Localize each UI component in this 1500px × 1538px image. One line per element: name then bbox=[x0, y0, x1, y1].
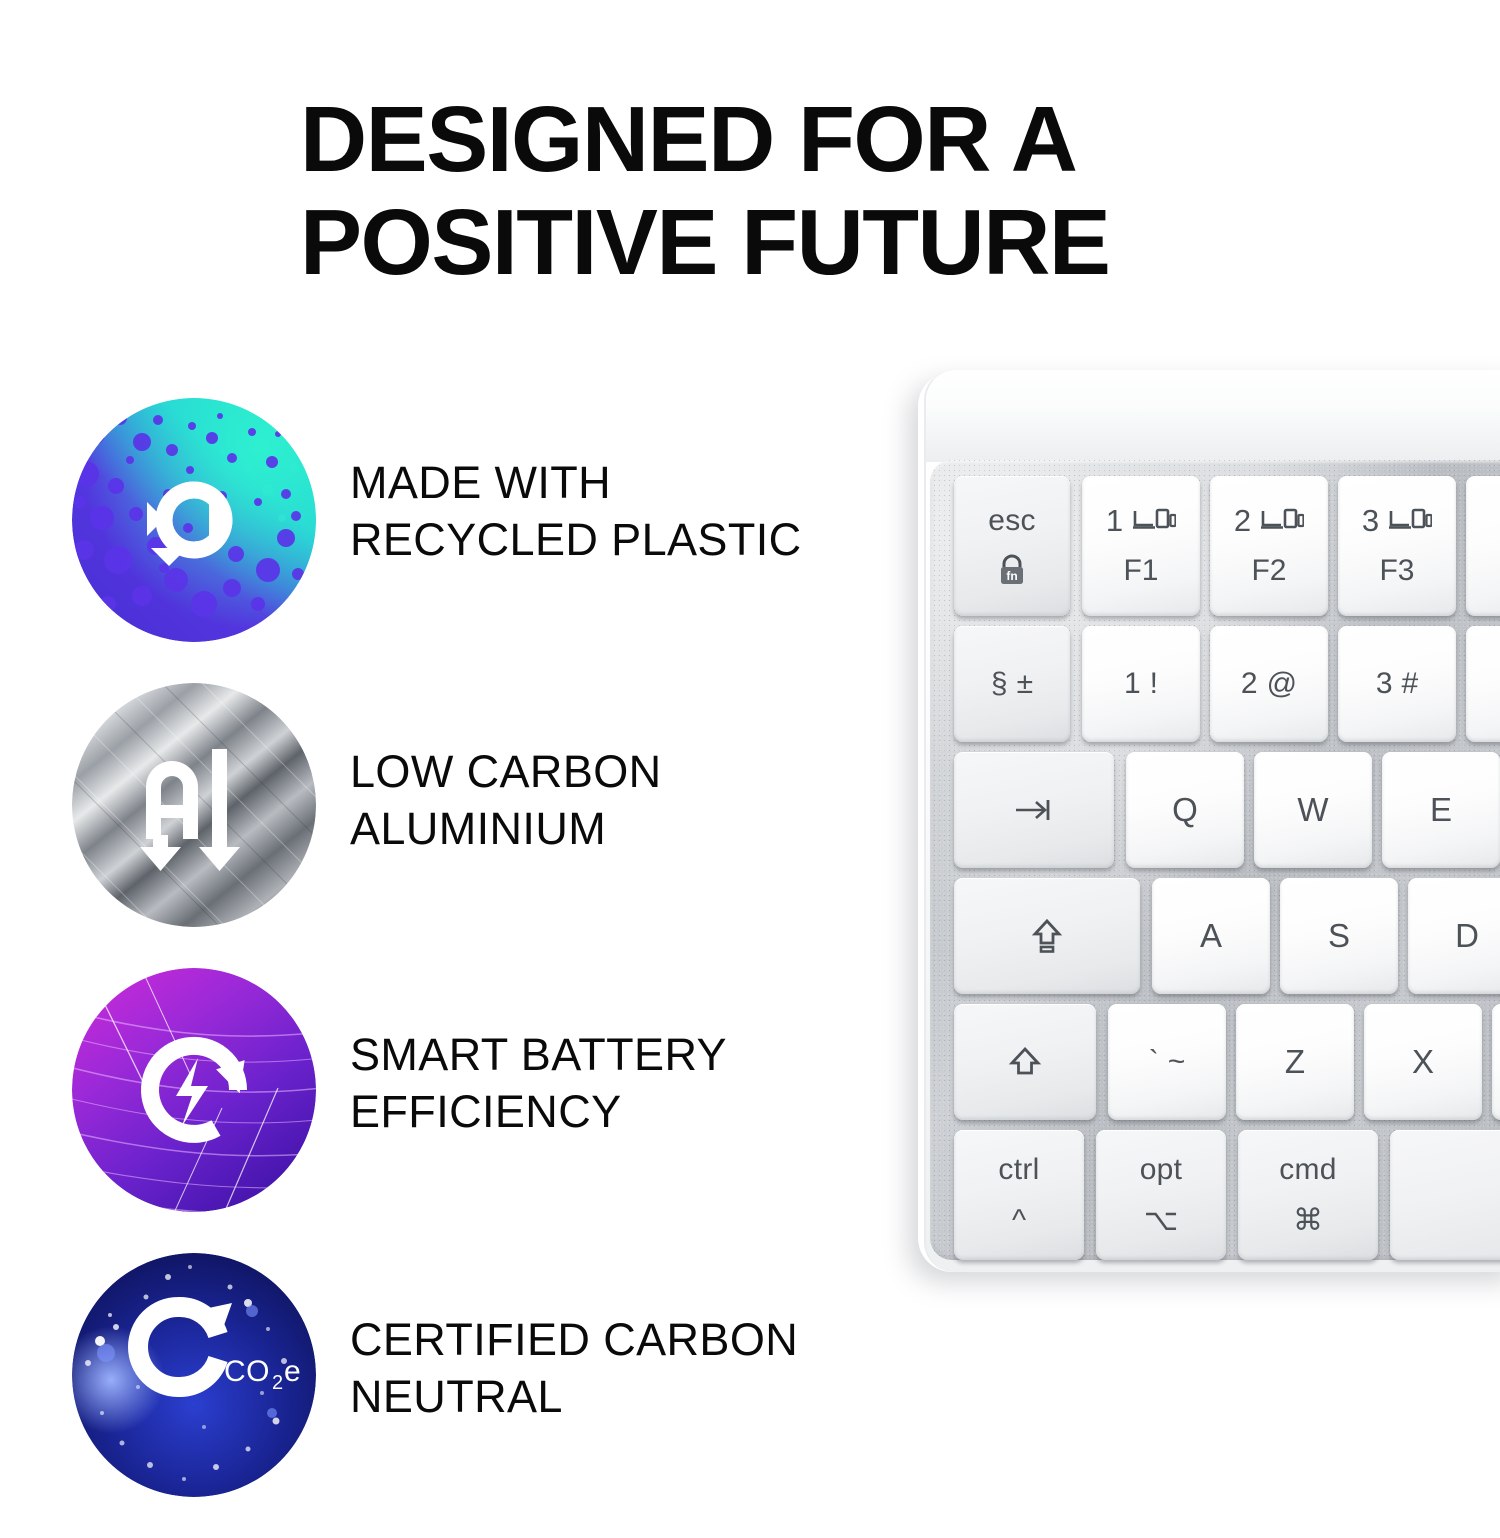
key-f1-label: F1 bbox=[1123, 554, 1158, 588]
key-w-label: W bbox=[1297, 792, 1328, 828]
key-x[interactable]: X bbox=[1364, 1004, 1482, 1120]
feature-label-line-2: EFFICIENCY bbox=[350, 1083, 880, 1140]
feature-label-line-1: CERTIFIED CARBON bbox=[350, 1311, 880, 1368]
feature-label-smart-battery-efficiency: SMART BATTERY EFFICIENCY bbox=[350, 1026, 880, 1140]
key-digit-2-label: 2 bbox=[1241, 667, 1258, 701]
key-cmd-sub: ⌘ bbox=[1293, 1205, 1323, 1237]
key-f3-number: 3 bbox=[1362, 504, 1379, 538]
key-backtick-label: ` bbox=[1149, 1045, 1159, 1079]
key-f2-top: 2 bbox=[1234, 504, 1304, 538]
key-q[interactable]: Q bbox=[1126, 752, 1244, 868]
feature-item-recycled-plastic: MADE WITH RECYCLED PLASTIC bbox=[72, 398, 882, 683]
low-carbon-aluminium-icon bbox=[72, 683, 316, 927]
key-f3-label: F3 bbox=[1379, 554, 1414, 588]
key-digit-2-shift: @ bbox=[1267, 667, 1297, 701]
key-q-label: Q bbox=[1172, 792, 1198, 828]
key-backtick-shift: ~ bbox=[1168, 1045, 1186, 1079]
easy-switch-devices-icon bbox=[1260, 508, 1304, 534]
key-f1[interactable]: 1 F1 bbox=[1082, 476, 1200, 616]
key-f2-number: 2 bbox=[1234, 504, 1251, 538]
key-digit-1-legends: 1 ! bbox=[1124, 667, 1158, 701]
key-section-shift: ± bbox=[1017, 667, 1033, 701]
easy-switch-devices-icon bbox=[1388, 508, 1432, 534]
key-digit-1[interactable]: 1 ! bbox=[1082, 626, 1200, 742]
svg-text:2: 2 bbox=[272, 1372, 283, 1394]
feature-item-smart-battery-efficiency: SMART BATTERY EFFICIENCY bbox=[72, 968, 882, 1253]
key-backtick-legends: ` ~ bbox=[1149, 1045, 1186, 1079]
certified-carbon-neutral-icon: CO 2 e bbox=[72, 1253, 316, 1497]
feature-label-line-1: LOW CARBON bbox=[350, 743, 880, 800]
key-digit-2[interactable]: 2 @ bbox=[1210, 626, 1328, 742]
key-digit-2-legends: 2 @ bbox=[1241, 667, 1297, 701]
page-title-line-1: DESIGNED FOR A bbox=[300, 88, 1300, 191]
shift-arrow-icon bbox=[1008, 1046, 1042, 1078]
key-cmd-label: cmd bbox=[1279, 1153, 1337, 1187]
key-shift[interactable] bbox=[954, 1004, 1096, 1120]
key-digit-3-label: 3 bbox=[1376, 667, 1393, 701]
keyboard-product-image: esc fn 1 bbox=[910, 362, 1500, 1272]
key-digit-3[interactable]: 3 # bbox=[1338, 626, 1456, 742]
svg-text:CO: CO bbox=[224, 1355, 270, 1388]
key-section[interactable]: § ± bbox=[954, 626, 1070, 742]
key-caps-lock[interactable] bbox=[954, 878, 1140, 994]
key-c[interactable] bbox=[1492, 1004, 1500, 1120]
feature-label-line-1: MADE WITH bbox=[350, 454, 880, 511]
feature-label-line-2: ALUMINIUM bbox=[350, 800, 880, 857]
key-digit-3-shift: # bbox=[1402, 667, 1419, 701]
key-esc-label: esc bbox=[988, 504, 1036, 538]
key-f1-number: 1 bbox=[1106, 504, 1123, 538]
svg-text:fn: fn bbox=[1006, 569, 1017, 583]
key-z[interactable]: Z bbox=[1236, 1004, 1354, 1120]
key-section-label: § bbox=[991, 667, 1008, 701]
key-spacebar[interactable] bbox=[1390, 1130, 1500, 1260]
feature-label-certified-carbon-neutral: CERTIFIED CARBON NEUTRAL bbox=[350, 1311, 880, 1425]
feature-list: MADE WITH RECYCLED PLASTIC bbox=[72, 398, 882, 1538]
key-digit-4[interactable] bbox=[1466, 626, 1500, 742]
easy-switch-devices-icon bbox=[1132, 508, 1176, 534]
feature-label-line-2: NEUTRAL bbox=[350, 1368, 880, 1425]
key-digit-1-label: 1 bbox=[1124, 667, 1141, 701]
key-d-label: D bbox=[1455, 918, 1479, 954]
key-e[interactable]: E bbox=[1382, 752, 1500, 868]
page-title-line-2: POSITIVE FUTURE bbox=[300, 191, 1300, 294]
tab-arrow-icon bbox=[1012, 797, 1056, 823]
key-ctrl-label: ctrl bbox=[998, 1153, 1039, 1187]
key-opt-label: opt bbox=[1140, 1153, 1183, 1187]
key-f4[interactable] bbox=[1466, 476, 1500, 616]
key-s-label: S bbox=[1328, 918, 1350, 954]
key-z-label: Z bbox=[1285, 1044, 1305, 1080]
feature-item-certified-carbon-neutral: CO 2 e CERTIFIED CARBON NEUTRAL bbox=[72, 1253, 882, 1538]
key-esc[interactable]: esc fn bbox=[954, 476, 1070, 616]
key-digit-1-shift: ! bbox=[1150, 667, 1158, 701]
key-d[interactable]: D bbox=[1408, 878, 1500, 994]
key-opt-sub: ⌥ bbox=[1144, 1205, 1179, 1237]
key-f2[interactable]: 2 F2 bbox=[1210, 476, 1328, 616]
page-title: DESIGNED FOR A POSITIVE FUTURE bbox=[300, 88, 1300, 294]
key-f2-label: F2 bbox=[1251, 554, 1286, 588]
key-s[interactable]: S bbox=[1280, 878, 1398, 994]
feature-label-line-1: SMART BATTERY bbox=[350, 1026, 880, 1083]
fn-lock-icon: fn bbox=[995, 552, 1029, 588]
keyboard-top-bezel bbox=[926, 370, 1500, 462]
key-f3[interactable]: 3 F3 bbox=[1338, 476, 1456, 616]
keyboard-keys: esc fn 1 bbox=[954, 476, 1500, 1242]
feature-label-low-carbon-aluminium: LOW CARBON ALUMINIUM bbox=[350, 743, 880, 857]
key-f3-top: 3 bbox=[1362, 504, 1432, 538]
feature-label-line-2: RECYCLED PLASTIC bbox=[350, 511, 880, 568]
key-a-label: A bbox=[1200, 918, 1222, 954]
key-backtick[interactable]: ` ~ bbox=[1108, 1004, 1226, 1120]
key-ctrl-sub: ^ bbox=[1012, 1205, 1026, 1237]
key-digit-3-legends: 3 # bbox=[1376, 667, 1418, 701]
key-ctrl[interactable]: ctrl ^ bbox=[954, 1130, 1084, 1260]
caps-lock-icon bbox=[1030, 918, 1064, 954]
key-a[interactable]: A bbox=[1152, 878, 1270, 994]
feature-label-recycled-plastic: MADE WITH RECYCLED PLASTIC bbox=[350, 454, 880, 568]
key-f1-top: 1 bbox=[1106, 504, 1176, 538]
smart-battery-efficiency-icon bbox=[72, 968, 316, 1212]
svg-text:e: e bbox=[284, 1355, 301, 1388]
key-section-legends: § ± bbox=[991, 667, 1033, 701]
recycled-plastic-icon bbox=[72, 398, 316, 642]
key-e-label: E bbox=[1430, 792, 1452, 828]
key-x-label: X bbox=[1412, 1044, 1434, 1080]
key-tab[interactable] bbox=[954, 752, 1114, 868]
feature-item-low-carbon-aluminium: LOW CARBON ALUMINIUM bbox=[72, 683, 882, 968]
key-cmd[interactable]: cmd ⌘ bbox=[1238, 1130, 1378, 1260]
key-w[interactable]: W bbox=[1254, 752, 1372, 868]
key-opt[interactable]: opt ⌥ bbox=[1096, 1130, 1226, 1260]
